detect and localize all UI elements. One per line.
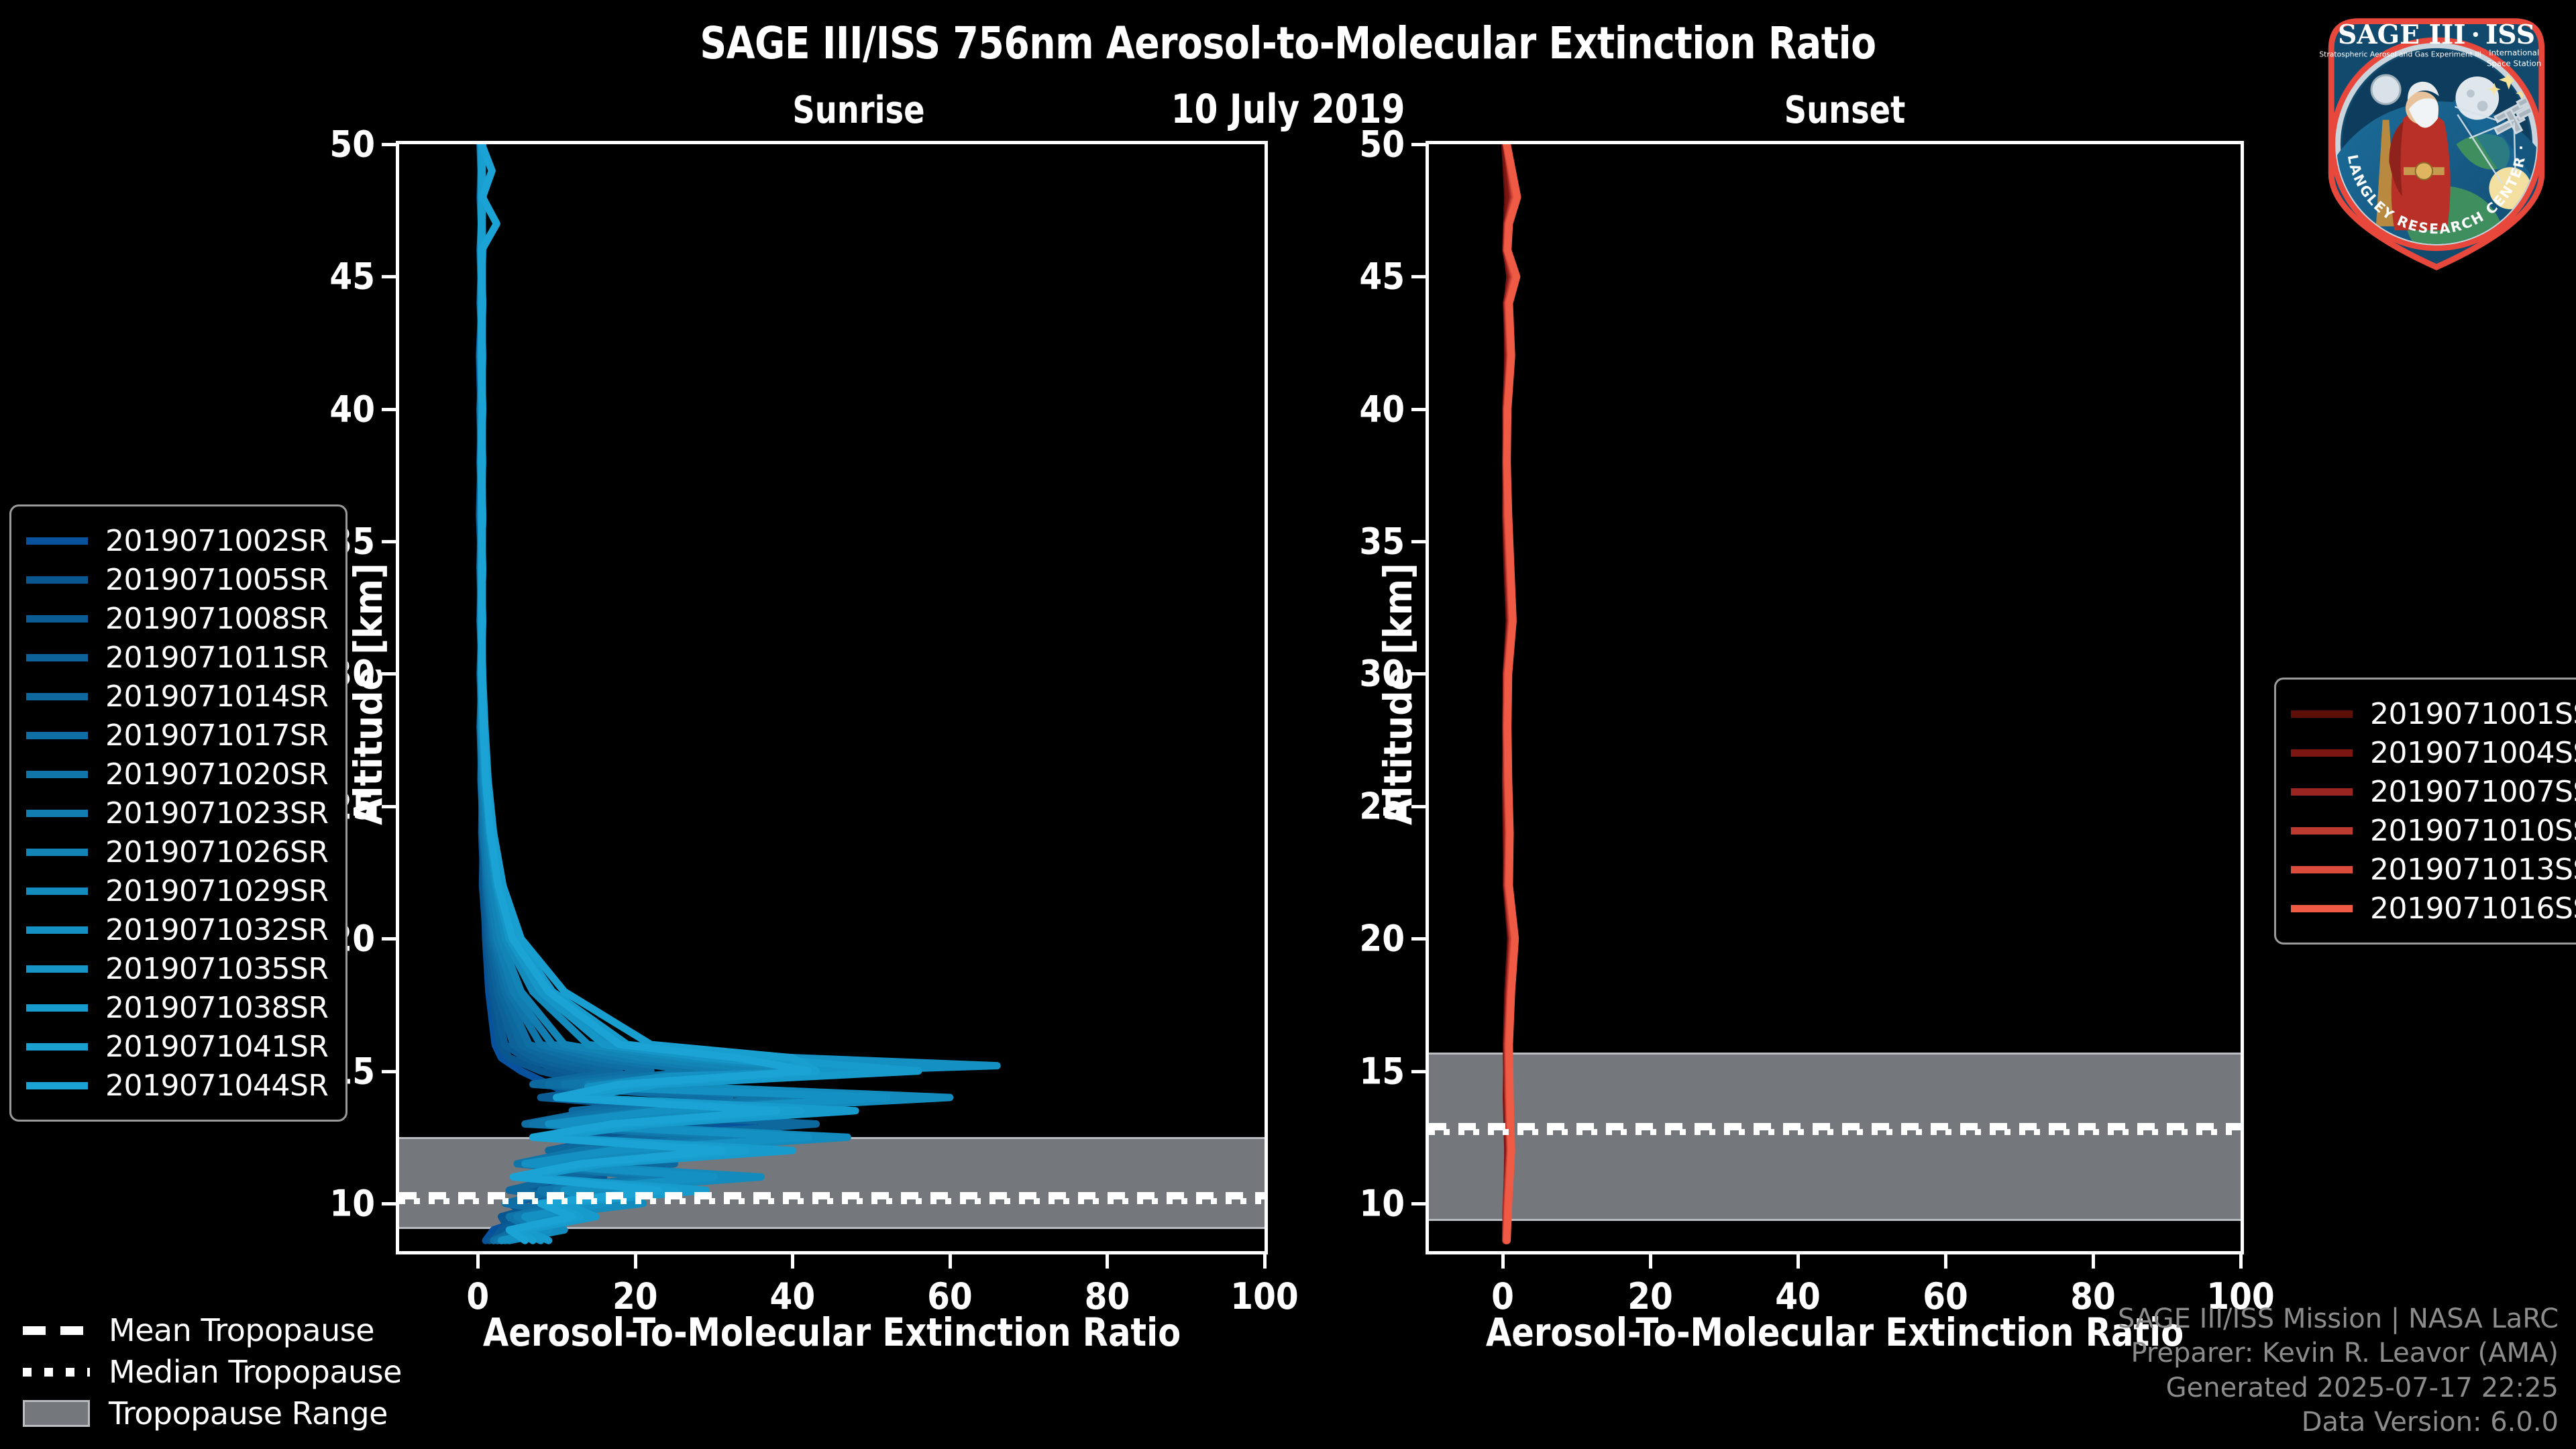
legend-item-label: 2019071023SR bbox=[105, 796, 328, 830]
x-tick bbox=[476, 1251, 480, 1269]
x-tick bbox=[1501, 1251, 1505, 1269]
x-tick bbox=[2092, 1251, 2095, 1269]
x-tick bbox=[1649, 1251, 1652, 1269]
x-axis-label-sunrise: Aerosol-To-Molecular Extinction Ratio bbox=[418, 1309, 1246, 1355]
legend-color-swatch bbox=[2291, 866, 2353, 873]
legend-item[interactable]: 2019071007SS bbox=[2291, 772, 2576, 811]
credits-block: SAGE III/ISS Mission | NASA LaRC Prepare… bbox=[2118, 1302, 2559, 1440]
y-tick bbox=[1411, 143, 1429, 146]
legend-item[interactable]: 2019071008SR bbox=[26, 599, 328, 638]
y-tick bbox=[1411, 1070, 1429, 1073]
y-tick bbox=[382, 937, 399, 941]
y-tick-label: 50 bbox=[1359, 123, 1405, 166]
figure-buckle bbox=[2416, 162, 2432, 179]
moon-crater bbox=[2467, 90, 2475, 98]
legend-color-swatch bbox=[26, 888, 88, 895]
y-tick bbox=[1411, 275, 1429, 278]
figure-subtitle: 10 July 2019 bbox=[90, 86, 2485, 133]
legend-item[interactable]: 2019071026SR bbox=[26, 833, 328, 871]
legend-color-swatch bbox=[2291, 827, 2353, 835]
legend-item[interactable]: 2019071017SR bbox=[26, 716, 328, 755]
legend-sunset[interactable]: 2019071001SS2019071004SS2019071007SS2019… bbox=[2274, 678, 2576, 945]
profile-lines bbox=[399, 144, 1265, 1251]
patch-subtitle-left: Stratospheric Aerosol and Gas Experiment… bbox=[2319, 50, 2481, 59]
legend-item-label: 2019071017SR bbox=[105, 718, 328, 753]
tropopause-legend-label: Mean Tropopause bbox=[109, 1312, 374, 1348]
y-tick-label: 50 bbox=[329, 123, 375, 166]
tropopause-legend-swatch bbox=[23, 1400, 90, 1427]
x-tick bbox=[1944, 1251, 1947, 1269]
x-tick bbox=[791, 1251, 794, 1269]
legend-color-swatch bbox=[26, 615, 88, 623]
legend-item-label: 2019071005SR bbox=[105, 563, 328, 597]
legend-color-swatch bbox=[26, 537, 88, 545]
plot-area-sunset bbox=[1429, 144, 2241, 1251]
legend-item-label: 2019071004SS bbox=[2370, 736, 2576, 770]
patch-subtitle-right-1: International bbox=[2489, 48, 2539, 58]
panel-title-sunset: Sunset bbox=[1567, 89, 2123, 132]
plot-axes-sunrise: 101520253035404550020406080100 bbox=[396, 141, 1268, 1254]
legend-item[interactable]: 2019071004SS bbox=[2291, 733, 2576, 772]
legend-color-swatch bbox=[26, 849, 88, 856]
y-tick-label: 10 bbox=[329, 1182, 375, 1224]
legend-item-label: 2019071026SR bbox=[105, 835, 328, 869]
legend-color-swatch bbox=[26, 810, 88, 817]
legend-item[interactable]: 2019071029SR bbox=[26, 871, 328, 910]
median-tropopause-line bbox=[1429, 1129, 2241, 1135]
legend-item-label: 2019071014SR bbox=[105, 680, 328, 714]
y-tick bbox=[382, 540, 399, 543]
legend-tropopause: Mean TropopauseMedian TropopauseTropopau… bbox=[23, 1309, 402, 1434]
legend-item-label: 2019071041SR bbox=[105, 1030, 328, 1064]
x-tick bbox=[2239, 1251, 2243, 1269]
y-tick-label: 45 bbox=[1359, 256, 1405, 298]
y-tick bbox=[1411, 937, 1429, 941]
median-tropopause-line bbox=[399, 1198, 1265, 1204]
x-tick bbox=[1263, 1251, 1267, 1269]
y-axis-label-sunrise: Altitude [km] bbox=[345, 563, 391, 825]
plot-area-sunrise bbox=[399, 144, 1265, 1251]
y-tick-label: 45 bbox=[329, 256, 375, 298]
legend-color-swatch bbox=[26, 1043, 88, 1051]
y-tick-label: 10 bbox=[1359, 1182, 1405, 1224]
credit-line-mission: SAGE III/ISS Mission | NASA LaRC bbox=[2118, 1302, 2559, 1336]
y-tick bbox=[1411, 408, 1429, 411]
legend-item[interactable]: 2019071014SR bbox=[26, 677, 328, 716]
x-tick bbox=[1106, 1251, 1109, 1269]
legend-item[interactable]: 2019071016SS bbox=[2291, 889, 2576, 928]
legend-color-swatch bbox=[26, 654, 88, 661]
x-tick bbox=[634, 1251, 637, 1269]
y-tick-label: 40 bbox=[329, 388, 375, 430]
legend-color-swatch bbox=[26, 926, 88, 934]
tropopause-legend-swatch bbox=[23, 1368, 90, 1377]
legend-item-label: 2019071010SS bbox=[2370, 814, 2576, 848]
plot-axes-sunset: 101520253035404550020406080100 bbox=[1426, 141, 2244, 1254]
legend-item[interactable]: 2019071002SR bbox=[26, 521, 328, 560]
y-tick-label: 40 bbox=[1359, 388, 1405, 430]
legend-item[interactable]: 2019071020SR bbox=[26, 755, 328, 794]
x-axis-label-sunset: Aerosol-To-Molecular Extinction Ratio bbox=[1446, 1309, 2224, 1355]
y-tick bbox=[382, 143, 399, 146]
legend-item-label: 2019071020SR bbox=[105, 757, 328, 792]
legend-color-swatch bbox=[26, 1004, 88, 1012]
legend-item-label: 2019071016SS bbox=[2370, 892, 2576, 926]
patch-title: SAGE III·ISS bbox=[2338, 19, 2535, 50]
legend-sunrise[interactable]: 2019071002SR2019071005SR2019071008SR2019… bbox=[9, 504, 347, 1122]
legend-item[interactable]: 2019071005SR bbox=[26, 560, 328, 599]
legend-color-swatch bbox=[26, 576, 88, 584]
legend-color-swatch bbox=[2291, 788, 2353, 796]
profile-line bbox=[1507, 144, 1517, 1240]
legend-item[interactable]: 2019071001SS bbox=[2291, 694, 2576, 733]
legend-item[interactable]: 2019071035SR bbox=[26, 949, 328, 988]
tropopause-legend-swatch bbox=[23, 1326, 90, 1335]
legend-color-swatch bbox=[26, 693, 88, 700]
legend-color-swatch bbox=[26, 771, 88, 778]
figure-title: SAGE III/ISS 756nm Aerosol-to-Molecular … bbox=[90, 17, 2485, 69]
legend-item-label: 2019071007SS bbox=[2370, 775, 2576, 809]
legend-item[interactable]: 2019071011SR bbox=[26, 638, 328, 677]
legend-item[interactable]: 2019071032SR bbox=[26, 910, 328, 949]
panel-title-sunrise: Sunrise bbox=[581, 89, 1136, 132]
legend-item-label: 2019071008SR bbox=[105, 602, 328, 636]
patch-subtitle-right-2: Space Station bbox=[2487, 58, 2541, 68]
sage3-iss-mission-patch-logo: SAGE III·ISS Stratospheric Aerosol and G… bbox=[2305, 9, 2568, 272]
y-tick-label: 15 bbox=[1359, 1050, 1405, 1092]
legend-item[interactable]: 2019071044SR bbox=[26, 1066, 328, 1105]
legend-color-swatch bbox=[2291, 749, 2353, 757]
legend-item-label: 2019071038SR bbox=[105, 991, 328, 1025]
tropopause-legend-item: Mean Tropopause bbox=[23, 1309, 402, 1351]
tropopause-legend-label: Median Tropopause bbox=[109, 1354, 402, 1390]
legend-item[interactable]: 2019071023SR bbox=[26, 794, 328, 833]
profile-lines bbox=[1429, 144, 2241, 1251]
y-tick bbox=[382, 275, 399, 278]
x-tick bbox=[949, 1251, 952, 1269]
staff-orb bbox=[2371, 75, 2400, 104]
legend-color-swatch bbox=[26, 965, 88, 973]
tropopause-legend-item: Tropopause Range bbox=[23, 1393, 402, 1434]
legend-item-label: 2019071002SR bbox=[105, 524, 328, 558]
legend-item[interactable]: 2019071041SR bbox=[26, 1027, 328, 1066]
legend-item[interactable]: 2019071038SR bbox=[26, 988, 328, 1027]
y-tick-label: 20 bbox=[1359, 918, 1405, 960]
legend-color-swatch bbox=[2291, 905, 2353, 912]
credit-line-preparer: Preparer: Kevin R. Leavor (AMA) bbox=[2118, 1336, 2559, 1371]
y-tick bbox=[1411, 1202, 1429, 1205]
credit-line-generated: Generated 2025-07-17 22:25 bbox=[2118, 1371, 2559, 1405]
x-tick bbox=[1796, 1251, 1800, 1269]
tropopause-legend-label: Tropopause Range bbox=[109, 1395, 388, 1432]
legend-item-label: 2019071011SR bbox=[105, 641, 328, 675]
moon-crater-2 bbox=[2477, 101, 2488, 111]
legend-item-label: 2019071013SS bbox=[2370, 853, 2576, 887]
y-tick bbox=[1411, 540, 1429, 543]
legend-item[interactable]: 2019071013SS bbox=[2291, 850, 2576, 889]
legend-item-label: 2019071044SR bbox=[105, 1069, 328, 1103]
legend-item[interactable]: 2019071010SS bbox=[2291, 811, 2576, 850]
y-tick bbox=[382, 408, 399, 411]
legend-item-label: 2019071029SR bbox=[105, 874, 328, 908]
legend-color-swatch bbox=[26, 732, 88, 739]
legend-color-swatch bbox=[2291, 710, 2353, 718]
credit-line-version: Data Version: 6.0.0 bbox=[2118, 1405, 2559, 1440]
tropopause-legend-item: Median Tropopause bbox=[23, 1351, 402, 1393]
legend-item-label: 2019071035SR bbox=[105, 952, 328, 986]
legend-color-swatch bbox=[26, 1082, 88, 1089]
legend-item-label: 2019071001SS bbox=[2370, 697, 2576, 731]
y-axis-label-sunset: Altitude [km] bbox=[1375, 563, 1421, 825]
y-tick bbox=[382, 1070, 399, 1073]
y-tick-label: 35 bbox=[1359, 521, 1405, 563]
legend-item-label: 2019071032SR bbox=[105, 913, 328, 947]
y-tick bbox=[382, 1202, 399, 1205]
